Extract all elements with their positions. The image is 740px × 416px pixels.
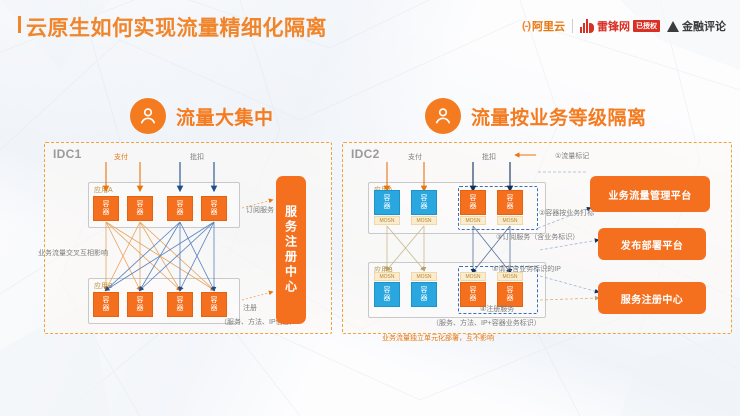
right-step-4: ④注册服务 (480, 304, 514, 314)
user-avatar-icon (130, 98, 166, 134)
left-panel-header: 流量大集中 (130, 98, 274, 134)
left-service-registry: 服务注册中心 (276, 176, 306, 324)
right-container-a-orange-2: 容器 (497, 190, 523, 215)
left-container-a-4: 容器 (201, 196, 227, 221)
right-register-detail: （服务、方法、IP+容器业务标识） (432, 318, 541, 328)
right-panel: 流量按业务等级隔离 IDC2 应用A 应用B 支付 批扣 (340, 0, 740, 416)
right-container-b-blue-2: 容器 (411, 282, 437, 307)
right-note-isolated: 业务流量独立单元化部署，互不影响 (382, 333, 494, 343)
right-sidecar-a-orange-2: MOSN (497, 216, 523, 225)
left-app-a-label: 应用A (94, 185, 113, 195)
right-traffic-label-pay: 支付 (408, 152, 422, 162)
left-container-a-3: 容器 (167, 196, 193, 221)
idc1-label: IDC1 (53, 147, 82, 161)
user-avatar-icon (425, 98, 461, 134)
right-panel-title: 流量按业务等级隔离 (471, 103, 647, 130)
left-panel-title: 流量大集中 (176, 103, 274, 130)
left-container-b-3: 容器 (167, 292, 193, 317)
right-step-2: ②容器按业务打标 (539, 208, 594, 218)
right-sidecar-a-orange-1: MOSN (460, 216, 486, 225)
right-sidecar-b-orange-1: MOSN (460, 272, 486, 281)
left-container-a-1: 容器 (93, 196, 119, 221)
right-sidecar-b-blue-1: MOSN (374, 272, 400, 281)
platform-service-registry: 服务注册中心 (598, 282, 706, 314)
left-app-b-label: 应用B (94, 281, 113, 291)
right-sidecar-a-blue-2: MOSN (411, 216, 437, 225)
left-container-a-2: 容器 (127, 196, 153, 221)
left-container-b-1: 容器 (93, 292, 119, 317)
left-traffic-label-pay: 支付 (114, 152, 128, 162)
left-container-b-2: 容器 (127, 292, 153, 317)
left-container-b-4: 容器 (201, 292, 227, 317)
right-container-a-blue-2: 容器 (411, 190, 437, 215)
left-traffic-label-batch: 批扣 (190, 152, 204, 162)
platform-release-deploy: 发布部署平台 (598, 228, 706, 260)
right-panel-header: 流量按业务等级隔离 (425, 98, 647, 134)
right-step-3: ③订阅服务（含业务标识） (496, 232, 579, 242)
idc2-label: IDC2 (351, 147, 380, 161)
slide-root: 云原生如何实现流量精细化隔离 (-) 阿里云 雷锋网 已授权 金融评论 流 (0, 0, 740, 416)
right-step-5: ⑤请求含业务标识的IP (492, 264, 561, 274)
left-register-label: 注册 (243, 303, 257, 313)
right-container-b-blue-1: 容器 (374, 282, 400, 307)
right-container-a-orange-1: 容器 (460, 190, 486, 215)
left-panel: 流量大集中 IDC1 应用A 应用B 支付 批扣 (0, 0, 340, 416)
right-sidecar-b-blue-2: MOSN (411, 272, 437, 281)
left-subscribe-label: 订阅服务 (246, 205, 274, 215)
right-container-a-blue-1: 容器 (374, 190, 400, 215)
left-note-cross-traffic: 业务流量交叉互相影响 (38, 248, 108, 258)
right-sidecar-a-blue-1: MOSN (374, 216, 400, 225)
right-step-1: ①流量标记 (555, 151, 589, 161)
platform-traffic-management: 业务流量管理平台 (590, 176, 710, 212)
right-traffic-label-batch: 批扣 (482, 152, 496, 162)
